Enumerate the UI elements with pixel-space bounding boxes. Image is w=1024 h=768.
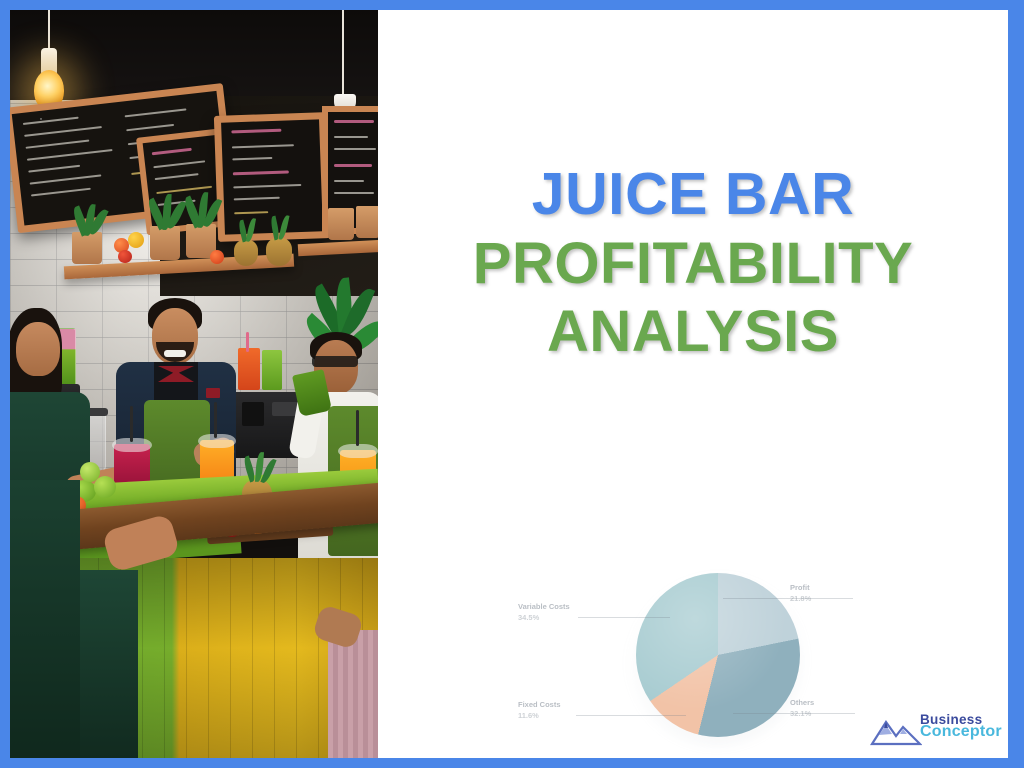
pendant-cord <box>48 10 50 52</box>
fruit-orange <box>210 250 224 264</box>
page-title: JUICE BAR PROFITABILITY ANALYSIS <box>378 160 1008 366</box>
slide-canvas: JUICE BAR PROFITABILITY ANALYSIS Profit … <box>10 10 1008 758</box>
cup-lid <box>198 434 236 448</box>
title-line-2: PROFITABILITY <box>378 230 1008 298</box>
plant-pot <box>356 206 378 238</box>
lime <box>94 476 116 498</box>
lime <box>80 462 100 482</box>
fruit-apple <box>118 250 132 263</box>
customer-left-body <box>10 480 80 758</box>
logo-line-2: Conceptor <box>920 723 1002 741</box>
pie-label-profit-name: Profit <box>790 583 810 592</box>
pie-label-fixed-costs-name: Fixed Costs <box>518 700 561 709</box>
juice-bar-photo <box>10 10 378 758</box>
leader-line-profit <box>723 598 853 599</box>
pie-label-others: Others 32.1% <box>790 698 814 720</box>
pineapple-icon <box>266 238 292 266</box>
striped-dress <box>328 630 378 758</box>
mountain-icon <box>870 716 922 746</box>
straw <box>356 410 359 446</box>
pie-label-profit-value: 21.8% <box>790 594 811 603</box>
title-line-1: JUICE BAR <box>378 160 1008 230</box>
leader-line-variable-costs <box>578 617 670 618</box>
pie-label-fixed-costs-value: 11.6% <box>518 711 539 720</box>
pie-label-fixed-costs: Fixed Costs 11.6% <box>518 700 561 722</box>
pie-label-variable-costs-value: 34.5% <box>518 613 539 622</box>
plant-pot <box>328 208 354 240</box>
straw <box>130 406 133 442</box>
leader-line-fixed-costs <box>576 715 686 716</box>
title-line-3: ANALYSIS <box>378 298 1008 366</box>
pie-label-others-name: Others <box>790 698 814 707</box>
business-conceptor-logo: Business Conceptor <box>870 710 1008 756</box>
straw <box>214 402 217 438</box>
content-panel: JUICE BAR PROFITABILITY ANALYSIS Profit … <box>378 10 1008 758</box>
juice-dispenser <box>238 348 260 390</box>
pineapple-icon <box>234 240 258 266</box>
smile <box>164 350 186 357</box>
face <box>16 322 60 376</box>
pie-label-variable-costs: Variable Costs 34.5% <box>518 602 570 624</box>
pocket-square <box>206 388 220 398</box>
fruit-lemon <box>128 232 144 248</box>
slide-frame: JUICE BAR PROFITABILITY ANALYSIS Profit … <box>0 0 1024 768</box>
pendant-cord <box>342 10 344 98</box>
plant-pot <box>150 226 180 260</box>
machine-panel <box>242 402 264 426</box>
pie-label-others-value: 32.1% <box>790 709 811 718</box>
pie-label-variable-costs-name: Variable Costs <box>518 602 570 611</box>
profitability-pie-chart: Profit 21.8% Others 32.1% Variable Costs… <box>518 555 918 758</box>
cup-lid <box>338 444 378 458</box>
pie-label-profit: Profit 21.8% <box>790 583 811 605</box>
eyeglasses <box>312 356 358 367</box>
juice-dispenser <box>262 350 282 390</box>
straw <box>246 332 249 352</box>
logo-text: Business Conceptor <box>920 712 1002 741</box>
plant-pot <box>72 232 102 264</box>
